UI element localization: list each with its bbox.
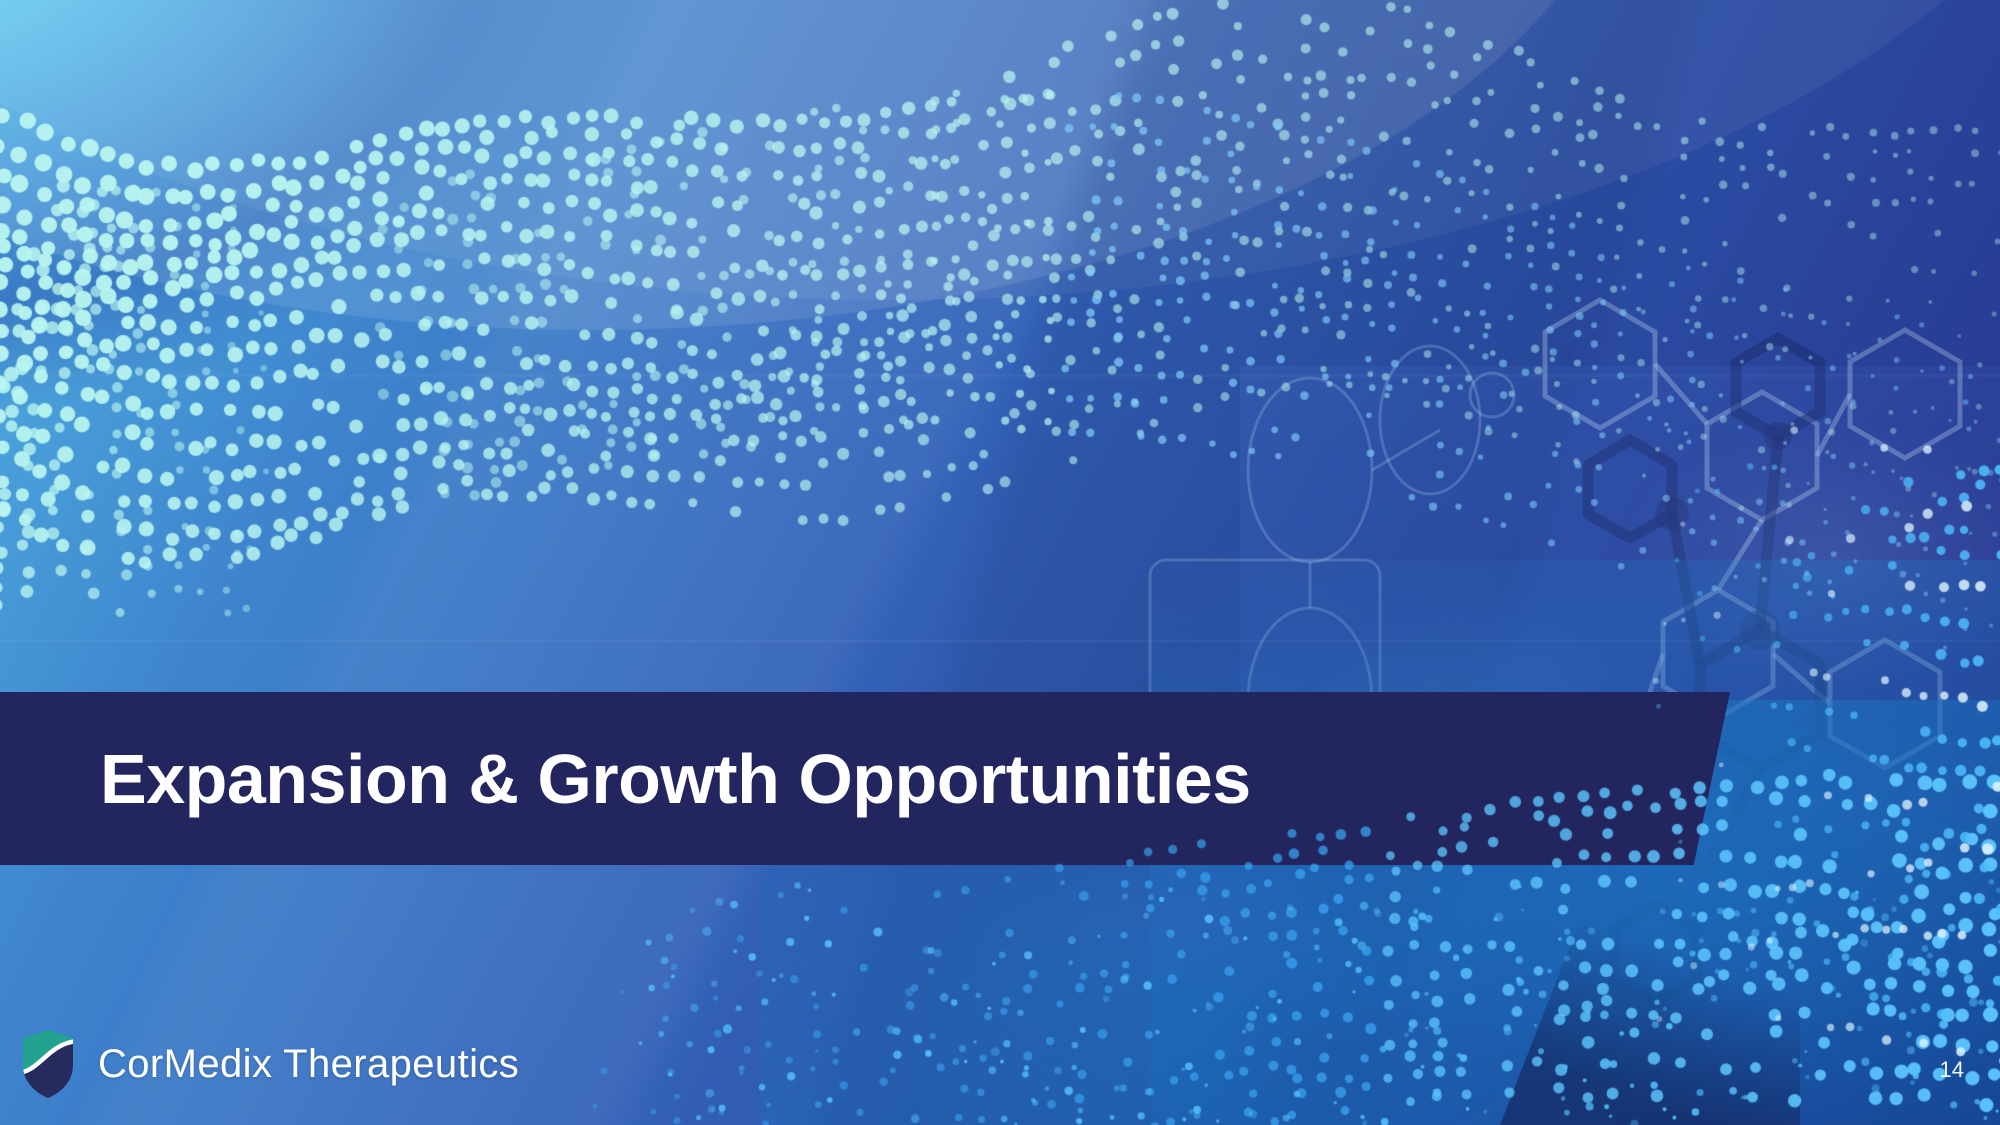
slide-canvas: Expansion & Growth Opportunities CorMedi… <box>0 0 2000 1125</box>
gloved-hand-shape <box>1040 830 1460 1125</box>
title-banner: Expansion & Growth Opportunities <box>0 692 1730 865</box>
page-title: Expansion & Growth Opportunities <box>100 744 1251 814</box>
page-number: 14 <box>1940 1057 1964 1083</box>
footer-brand-name: CorMedix Therapeutics <box>98 1042 519 1087</box>
cormedix-shield-logo-icon <box>20 1029 76 1099</box>
footer: CorMedix Therapeutics <box>20 1029 519 1099</box>
